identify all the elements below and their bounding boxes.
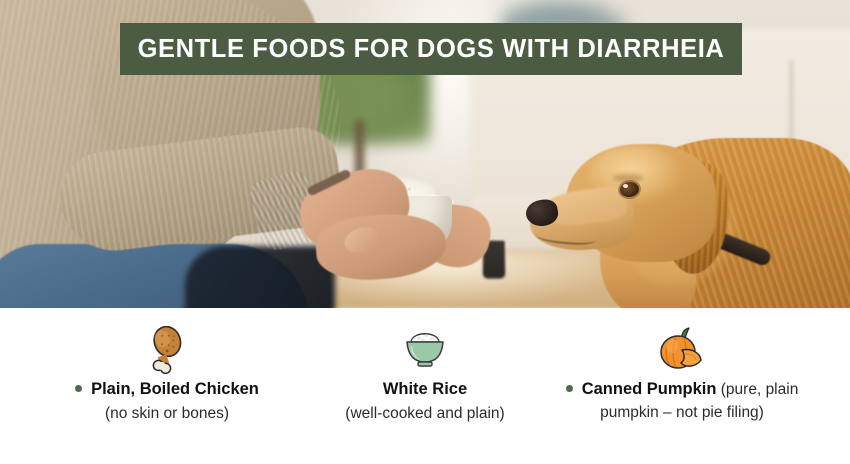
title-banner: GENTLE FOODS FOR DOGS WITH DIARRHEIA xyxy=(120,23,742,75)
list-item-white-rice: White Rice (well-cooked and plain) xyxy=(320,308,530,425)
poultry-leg-icon xyxy=(32,308,302,378)
item-note: (well-cooked and plain) xyxy=(324,403,526,425)
cooked-rice-bowl-icon xyxy=(320,308,530,378)
rice-bowl-svg xyxy=(400,327,450,373)
bullet-dot xyxy=(566,385,573,392)
pumpkin-svg xyxy=(656,326,708,374)
list-item-chicken: Plain, Boiled Chicken (no skin or bones) xyxy=(32,308,302,425)
item-text-chicken: Plain, Boiled Chicken (no skin or bones) xyxy=(32,378,302,425)
page-title: GENTLE FOODS FOR DOGS WITH DIARRHEIA xyxy=(138,35,725,64)
hero-photo: GENTLE FOODS FOR DOGS WITH DIARRHEIA xyxy=(0,0,850,308)
pumpkin-icon xyxy=(536,308,828,378)
golden-retriever-dog xyxy=(470,78,850,308)
bullet-dot xyxy=(75,385,82,392)
item-name: Plain, Boiled Chicken xyxy=(91,380,259,398)
poultry-leg-svg xyxy=(145,326,189,374)
dog-eye-glint xyxy=(623,184,628,188)
list-item-canned-pumpkin: Canned Pumpkin (pure, plain pumpkin – no… xyxy=(536,308,828,424)
item-text-white-rice: White Rice (well-cooked and plain) xyxy=(320,378,530,425)
item-text-canned-pumpkin: Canned Pumpkin (pure, plain pumpkin – no… xyxy=(536,378,828,424)
item-note: (no skin or bones) xyxy=(36,403,298,425)
dog-brow xyxy=(613,174,643,182)
item-name: White Rice xyxy=(383,380,467,398)
food-list-footer: Plain, Boiled Chicken (no skin or bones) xyxy=(0,308,850,464)
person-jeans-shadow xyxy=(185,246,335,308)
item-name: Canned Pumpkin xyxy=(582,380,717,398)
infographic-root: GENTLE FOODS FOR DOGS WITH DIARRHEIA xyxy=(0,0,850,464)
